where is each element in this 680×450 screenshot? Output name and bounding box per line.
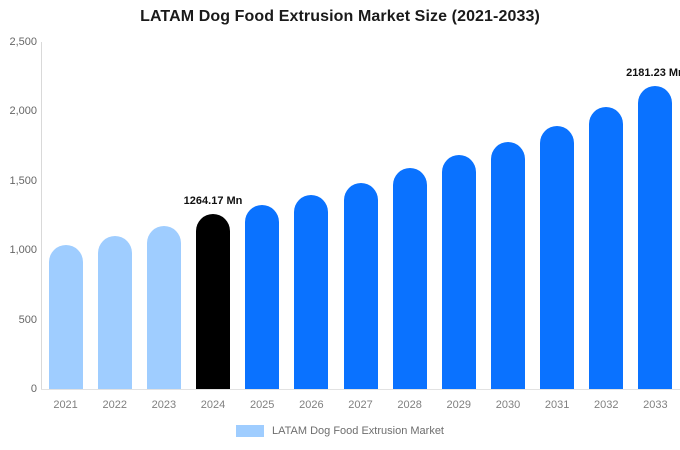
chart-title: LATAM Dog Food Extrusion Market Size (20…	[0, 8, 680, 26]
x-axis-tick-label: 2026	[299, 399, 323, 411]
bar[interactable]	[245, 205, 279, 389]
x-axis-tick-label: 2023	[152, 399, 176, 411]
y-axis-tick-label: 2,000	[1, 105, 37, 117]
y-axis-tick-label: 1,000	[1, 244, 37, 256]
bar[interactable]	[491, 142, 525, 389]
bar[interactable]	[393, 168, 427, 389]
x-axis-tick-label: 2022	[102, 399, 126, 411]
y-axis-tick-label: 0	[1, 383, 37, 395]
legend-swatch-latam-dog-food-extrusion-market	[236, 425, 264, 437]
x-axis-tick-label: 2025	[250, 399, 274, 411]
x-axis-tick-label: 2027	[348, 399, 372, 411]
y-axis-tick-label: 500	[1, 314, 37, 326]
bar[interactable]	[98, 236, 132, 389]
bar[interactable]	[147, 226, 181, 389]
x-axis-tick-label: 2032	[594, 399, 618, 411]
y-axis-tick-label: 1,500	[1, 175, 37, 187]
x-axis-line	[41, 389, 680, 390]
legend-label-latam-dog-food-extrusion-market: LATAM Dog Food Extrusion Market	[272, 425, 444, 437]
bar[interactable]	[638, 86, 672, 389]
bar[interactable]	[344, 183, 378, 389]
bar-value-label: 2181.23 Mn	[626, 67, 680, 79]
bar[interactable]	[294, 195, 328, 389]
x-axis-tick-label: 2024	[201, 399, 225, 411]
x-axis-tick-label: 2021	[53, 399, 77, 411]
bars-container	[41, 42, 680, 389]
bar-chart: LATAM Dog Food Extrusion Market Size (20…	[0, 0, 680, 450]
chart-legend: LATAM Dog Food Extrusion Market	[0, 425, 680, 437]
x-axis-tick-label: 2029	[447, 399, 471, 411]
x-axis-tick-label: 2028	[397, 399, 421, 411]
bar[interactable]	[589, 107, 623, 389]
x-axis-tick-label: 2033	[643, 399, 667, 411]
x-axis-tick-label: 2030	[496, 399, 520, 411]
bar[interactable]	[442, 155, 476, 389]
bar[interactable]	[196, 214, 230, 389]
bar[interactable]	[49, 245, 83, 389]
x-axis-tick-label: 2031	[545, 399, 569, 411]
y-axis: 2,5002,0001,5001,0005000	[0, 0, 37, 450]
bar-value-label: 1264.17 Mn	[184, 195, 243, 207]
y-axis-tick-label: 2,500	[1, 36, 37, 48]
bar[interactable]	[540, 126, 574, 389]
